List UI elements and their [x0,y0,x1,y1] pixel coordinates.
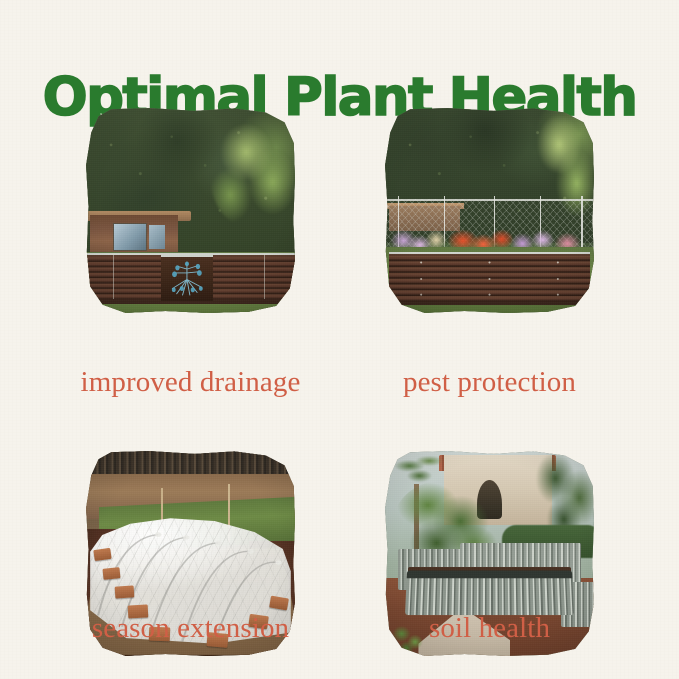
house-window-secondary [149,225,166,250]
house-window [113,223,146,252]
photo-pest-protection [385,108,594,313]
brick [115,586,135,600]
cross-section-rim [161,255,213,257]
fence-top-rail [385,199,594,201]
bed-corner-post-left [113,254,114,299]
brick [102,567,120,580]
bed-corner-post-right [264,254,265,299]
plant-roots-diagram [165,260,209,299]
caption-improved-drainage: improved drainage [86,313,295,451]
caption-pest-protection: pest protection [385,313,594,451]
raised-bed-rivets [389,256,590,302]
caption-season-extension: season extension [86,600,295,656]
scene-flower-bed-with-fence [385,108,594,313]
feature-card-improved-drainage[interactable] [86,108,295,313]
infographic-page: Optimal Plant Health [0,0,679,679]
feature-grid: improved drainage pest protection [86,108,594,656]
caption-soil-health: soil health [385,600,594,656]
scene-raised-bed-cross-section [86,108,295,313]
lettuce-plants [412,560,567,581]
photo-improved-drainage [86,108,295,313]
feature-card-pest-protection[interactable] [385,108,594,313]
